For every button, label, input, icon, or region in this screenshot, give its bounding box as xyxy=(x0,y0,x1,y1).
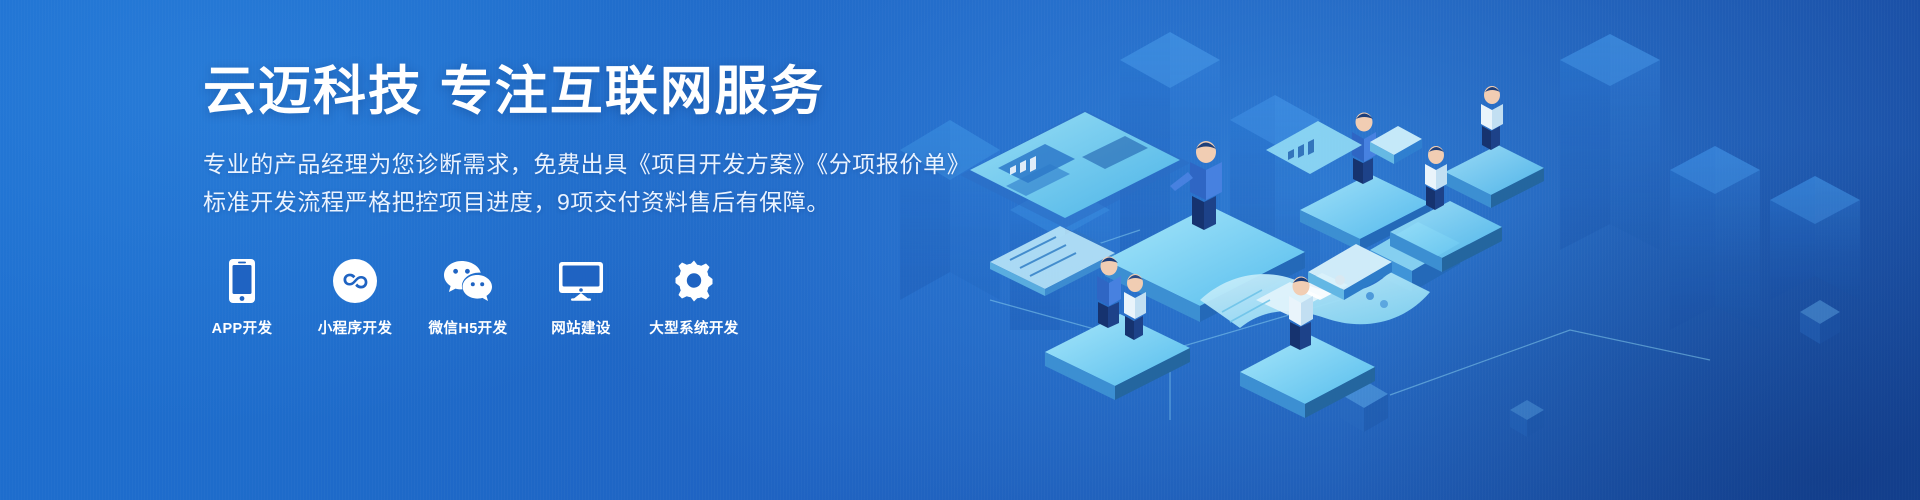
floating-cubes xyxy=(1340,300,1840,437)
hero-illustration xyxy=(870,0,1920,500)
person-far-right-lower xyxy=(1425,146,1447,210)
mini-program-icon xyxy=(333,258,377,304)
service-label-wechat-h5: 微信H5开发 xyxy=(429,317,508,338)
subtitle-line-1: 专业的产品经理为您诊断需求，免费出具《项目开发方案》《分项报价单》 xyxy=(203,147,963,182)
hero-copy: 云迈科技 专注互联网服务 专业的产品经理为您诊断需求，免费出具《项目开发方案》《… xyxy=(203,62,963,338)
service-list: APP开发 小程序开发 xyxy=(203,258,963,338)
service-label-app: APP开发 xyxy=(212,317,273,338)
service-item-app[interactable]: APP开发 xyxy=(203,258,281,338)
person-bottom-left-1 xyxy=(1097,257,1121,329)
service-item-website[interactable]: 网站建设 xyxy=(542,258,620,338)
gear-icon xyxy=(672,258,716,304)
wechat-icon xyxy=(442,258,494,304)
service-item-wechat-h5[interactable]: 微信H5开发 xyxy=(429,258,507,338)
chat-bubble-panel xyxy=(1370,126,1422,164)
page-title: 云迈科技 专注互联网服务 xyxy=(203,62,963,121)
service-item-mini-program[interactable]: 小程序开发 xyxy=(316,258,394,338)
hero-banner: 云迈科技 专注互联网服务 专业的产品经理为您诊断需求，免费出具《项目开发方案》《… xyxy=(0,0,1920,500)
subtitle-line-2: 标准开发流程严格把控项目进度，9项交付资料售后有保障。 xyxy=(203,185,963,220)
mobile-phone-icon xyxy=(227,258,257,304)
person-bottom-left-2 xyxy=(1124,274,1146,340)
service-label-large-system: 大型系统开发 xyxy=(649,317,738,338)
monitor-icon xyxy=(558,258,604,304)
hero-subtitle: 专业的产品经理为您诊断需求，免费出具《项目开发方案》《分项报价单》 标准开发流程… xyxy=(203,147,963,220)
service-label-mini-program: 小程序开发 xyxy=(318,317,393,338)
person-far-right-upper xyxy=(1481,86,1503,150)
service-item-large-system[interactable]: 大型系统开发 xyxy=(655,258,733,338)
service-label-website: 网站建设 xyxy=(551,317,611,338)
